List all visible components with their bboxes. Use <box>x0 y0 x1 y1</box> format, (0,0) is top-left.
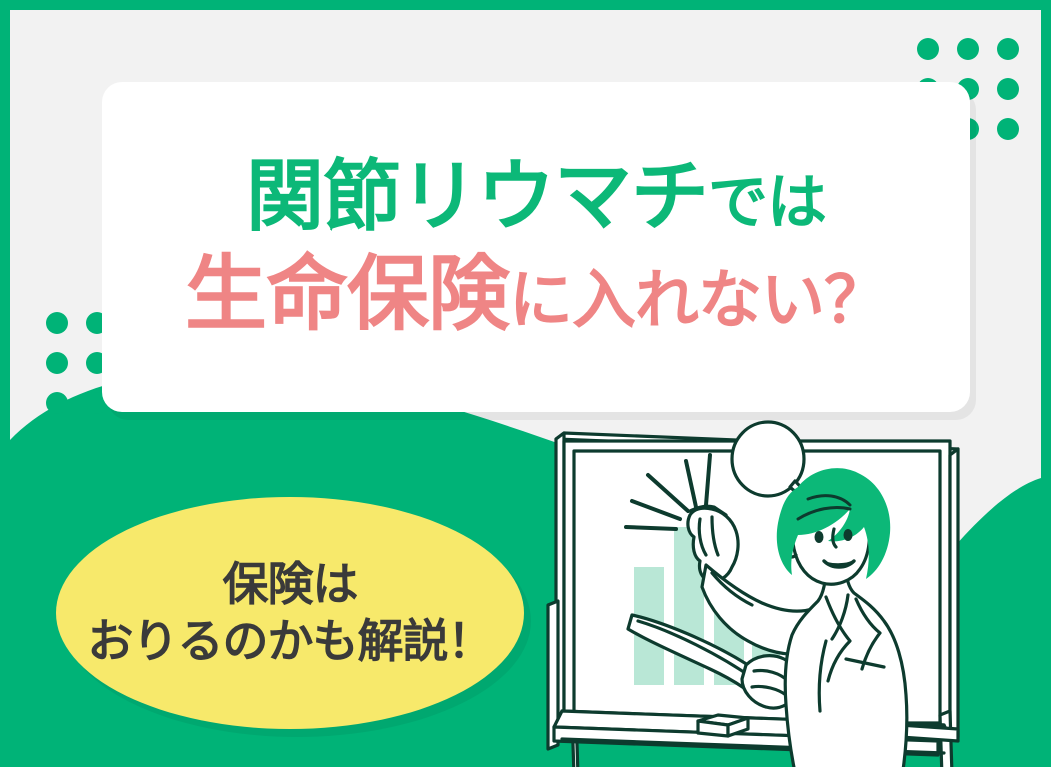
headline: 関節リウマチでは 生命保険に入れない？ <box>185 158 887 336</box>
headline-emphasis-1: 関節リウマチ <box>246 152 708 242</box>
badge-line-1: 保険は <box>223 556 358 614</box>
decor-dot <box>997 78 1019 100</box>
decor-dot <box>997 118 1019 140</box>
decor-dot <box>46 352 68 374</box>
decor-dot <box>46 392 68 414</box>
decor-dot <box>917 38 939 60</box>
decor-dot <box>997 38 1019 60</box>
headline-emphasis-2: 生命保険 <box>185 247 509 342</box>
dot-grid-left-icon <box>46 312 108 414</box>
badge-line-2: おりるのかも解説！ <box>88 613 493 671</box>
headline-line-2: 生命保険に入れない？ <box>185 254 887 336</box>
headline-line-1: 関節リウマチでは <box>185 158 887 236</box>
banner-canvas: 保険は おりるのかも解説！ 関節リウマチでは 生命保険に入れない？ <box>0 0 1051 767</box>
eraser-icon <box>698 715 748 736</box>
headline-suffix-2: に入れない？ <box>509 264 887 338</box>
headline-card: 関節リウマチでは 生命保険に入れない？ <box>102 82 970 412</box>
headline-suffix-1: では <box>708 168 826 238</box>
illustration-woman-presenting-whiteboard <box>540 415 1041 767</box>
decor-dot <box>957 38 979 60</box>
decor-dot <box>46 312 68 334</box>
badge-callout: 保険は おりるのかも解説！ <box>56 497 524 729</box>
inner-panel: 保険は おりるのかも解説！ 関節リウマチでは 生命保険に入れない？ <box>10 10 1041 767</box>
